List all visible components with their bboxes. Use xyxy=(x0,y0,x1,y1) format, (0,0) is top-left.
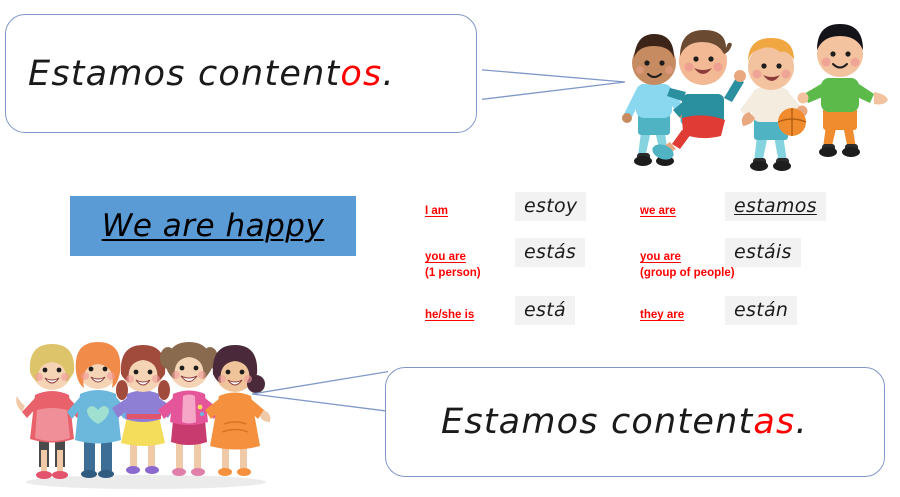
english-label: he/she is xyxy=(425,308,474,322)
boys-group-illustration xyxy=(612,6,900,181)
conjugation-row: we are estamos xyxy=(640,192,845,238)
spanish-form: estoy xyxy=(515,192,586,221)
conjugation-row: you are (group of people) estáis xyxy=(640,238,845,284)
top-bubble-sentence: Estamos contentos. xyxy=(28,54,395,94)
english-label: they are xyxy=(640,308,684,322)
english-label: we are xyxy=(640,204,676,218)
conjugation-row: I am estoy xyxy=(425,192,630,238)
boy-3 xyxy=(740,38,808,171)
translation-text: We are happy xyxy=(102,208,325,244)
bottom-bubble-text-black-start: Estamos content xyxy=(441,402,753,442)
english-label: I am xyxy=(425,204,448,218)
boy-4 xyxy=(798,24,889,157)
top-bubble-tail xyxy=(460,60,635,110)
spanish-form: estáis xyxy=(725,238,801,267)
spanish-form-highlighted: estamos xyxy=(725,192,826,221)
top-bubble-text-black-end: . xyxy=(382,54,394,94)
top-bubble-text-red-ending: os xyxy=(340,54,382,94)
bottom-bubble-text-red-ending: as xyxy=(753,402,795,442)
spanish-form: están xyxy=(725,296,797,325)
conjugation-row: he/she is está xyxy=(425,296,630,342)
english-label-note: (group of people) xyxy=(640,266,735,280)
speech-bubble-girls: Estamos contentas. xyxy=(385,367,885,477)
translation-highlight-box: We are happy xyxy=(70,196,356,256)
girls-group-illustration xyxy=(2,332,290,492)
bottom-bubble-text-black-end: . xyxy=(795,402,807,442)
english-label: you are (group of people) xyxy=(640,250,735,280)
slide-canvas: Estamos contentos. xyxy=(0,0,900,492)
english-label: you are (1 person) xyxy=(425,250,481,280)
spanish-form: estás xyxy=(515,238,585,267)
conjugation-table: I am estoy you are (1 person) estás he/s… xyxy=(425,192,855,332)
bottom-bubble-sentence: Estamos contentas. xyxy=(441,402,808,442)
conjugation-row: you are (1 person) estás xyxy=(425,238,630,284)
speech-bubble-boys: Estamos contentos. xyxy=(5,14,477,133)
english-label-note: (1 person) xyxy=(425,266,481,280)
spanish-form: está xyxy=(515,296,575,325)
top-bubble-text-black-start: Estamos content xyxy=(28,54,340,94)
conjugation-row: they are están xyxy=(640,296,845,342)
